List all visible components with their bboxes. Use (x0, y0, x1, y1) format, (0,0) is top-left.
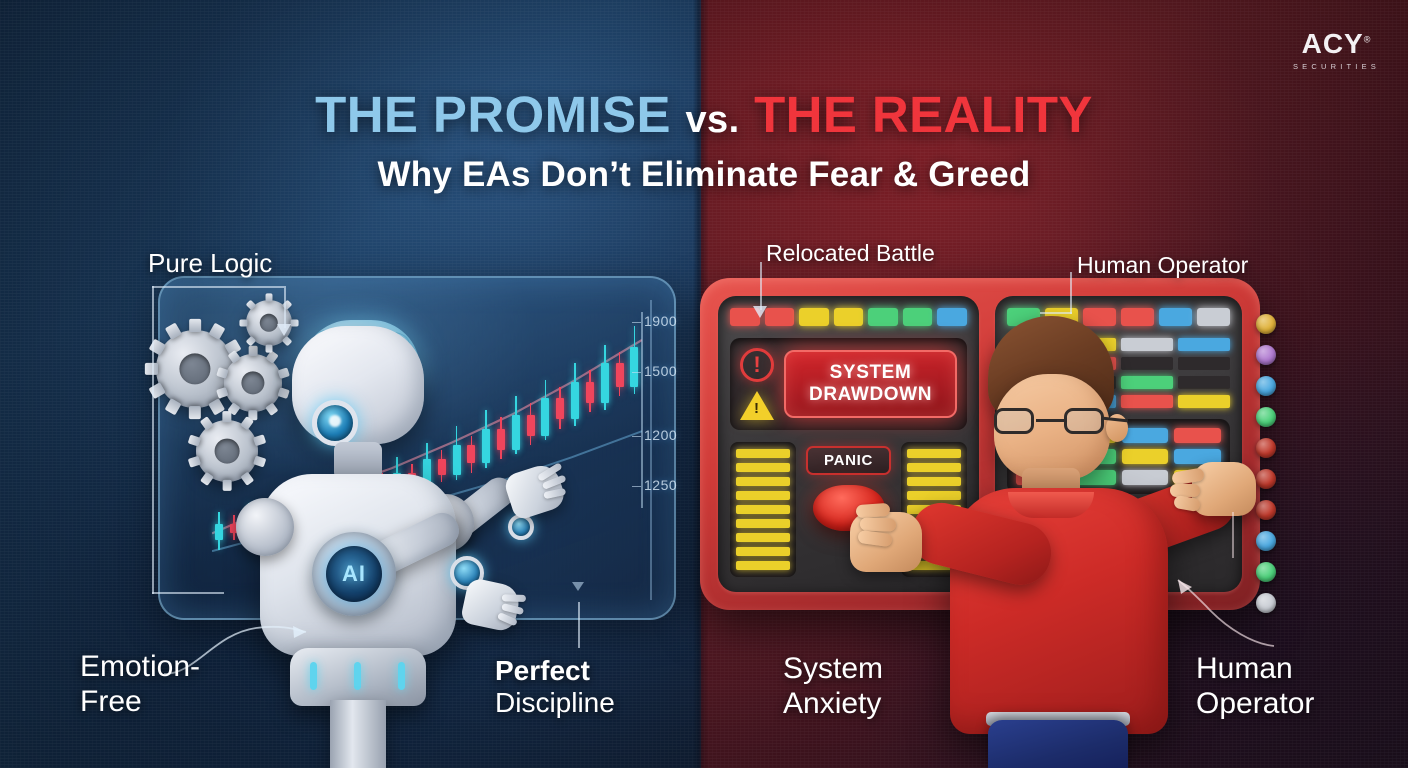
axis-tick (632, 486, 641, 487)
arrow-down-icon (277, 324, 291, 336)
robot-vent-light (310, 662, 317, 690)
gear-tooth (145, 363, 158, 375)
callout-human-operator-line2: Operator (1196, 687, 1314, 720)
axis-tick (632, 436, 641, 437)
ai-badge: AI (326, 546, 382, 602)
warning-triangle-icon (740, 391, 774, 420)
callout-emotion-free-line2: Free (80, 685, 142, 718)
led-indicator (799, 308, 829, 326)
operator-hand-left (850, 512, 922, 572)
robot-pedestal-column (330, 700, 386, 768)
bar-segment (736, 533, 790, 542)
axis-tick (632, 372, 641, 373)
callout-human-operator-top: Human Operator (1077, 252, 1248, 279)
robot-camera-eye-icon (312, 400, 358, 446)
brand-logo-subtitle: SECURITIES (1293, 62, 1380, 71)
bar-segment (736, 519, 790, 528)
title-block: THE PROMISE vs. THE REALITY Why EAs Don’… (0, 88, 1408, 195)
bar-segment (736, 449, 790, 458)
ai-badge-label: AI (342, 561, 366, 587)
brand-logo-text: ACY (1302, 28, 1364, 59)
axis-tick-label: 1250 (644, 477, 677, 493)
bar-segment (736, 547, 790, 556)
infographic-canvas: 1900 1500 1200 1250 (0, 0, 1408, 768)
screen-right-rail (650, 300, 652, 600)
page-title: THE PROMISE vs. THE REALITY (0, 88, 1408, 141)
brand-logo: ACY® SECURITIES (1293, 30, 1380, 71)
title-promise: THE PROMISE (315, 86, 671, 143)
operator-trousers (988, 720, 1128, 768)
callout-human-operator-line1: Human (1196, 652, 1293, 685)
callout-perfect-discipline: Perfect Discipline (495, 655, 695, 720)
alert-icon-group: ! (740, 348, 774, 420)
axis-tick-label: 1200 (644, 427, 677, 443)
callout-relocated-battle: Relocated Battle (766, 240, 935, 267)
bar-segment (736, 477, 790, 486)
alert-line-1: SYSTEM (792, 362, 949, 384)
robot-shoulder-left (236, 498, 294, 556)
bar-segment (736, 491, 790, 500)
led-indicator (765, 308, 795, 326)
gear-tooth (266, 293, 273, 301)
bar-segment (736, 505, 790, 514)
operator-hand-right (1192, 462, 1256, 516)
axis-tick-label: 1900 (644, 313, 677, 329)
brand-logo-mark: ACY® (1302, 30, 1372, 58)
page-subtitle: Why EAs Don’t Eliminate Fear & Greed (0, 155, 1408, 195)
exclamation-circle-icon: ! (740, 348, 774, 382)
chart-axis-line (641, 312, 643, 508)
axis-tick-label: 1500 (644, 363, 677, 379)
callout-system-anxiety-line1: System (783, 652, 883, 685)
marker-triangle-icon (572, 582, 584, 591)
callout-emotion-free-line1: Emotion- (80, 650, 200, 683)
callout-discipline: Discipline (495, 687, 615, 718)
gear-tooth (222, 411, 231, 422)
callout-system-anxiety-line2: Anxiety (783, 687, 881, 720)
gear-tooth (189, 319, 201, 332)
registered-trademark-icon: ® (1364, 35, 1372, 45)
title-vs: vs. (686, 99, 740, 141)
led-indicator (868, 308, 898, 326)
robot-hand-lower (460, 577, 522, 633)
callout-emotion-free: Emotion- Free (80, 650, 250, 720)
title-reality: THE REALITY (754, 86, 1093, 143)
callout-pure-logic: Pure Logic (148, 248, 272, 278)
bar-segment (736, 463, 790, 472)
panic-label: PANIC (806, 446, 891, 475)
alert-line-2: DRAWDOWN (792, 384, 949, 406)
bar-graph-left (730, 442, 796, 577)
led-indicator (903, 308, 933, 326)
operator-collar (1008, 492, 1094, 518)
callout-system-anxiety: System Anxiety (783, 652, 933, 722)
gear-tooth (189, 406, 201, 419)
robot-vent-light (354, 662, 361, 690)
callout-human-operator-bottom: Human Operator (1196, 652, 1356, 722)
robot-vent-light (398, 662, 405, 690)
arrow-down-icon (753, 306, 767, 318)
bar-segment (736, 561, 790, 570)
led-indicator (834, 308, 864, 326)
alert-row: ! SYSTEM DRAWDOWN (740, 348, 957, 420)
robot-hand-upper (502, 461, 568, 521)
eyeglasses-icon (992, 408, 1122, 436)
robot-chest-plate: AI (312, 532, 396, 616)
gear-tooth (222, 480, 231, 491)
axis-tick (632, 322, 641, 323)
callout-perfect: Perfect (495, 655, 695, 687)
